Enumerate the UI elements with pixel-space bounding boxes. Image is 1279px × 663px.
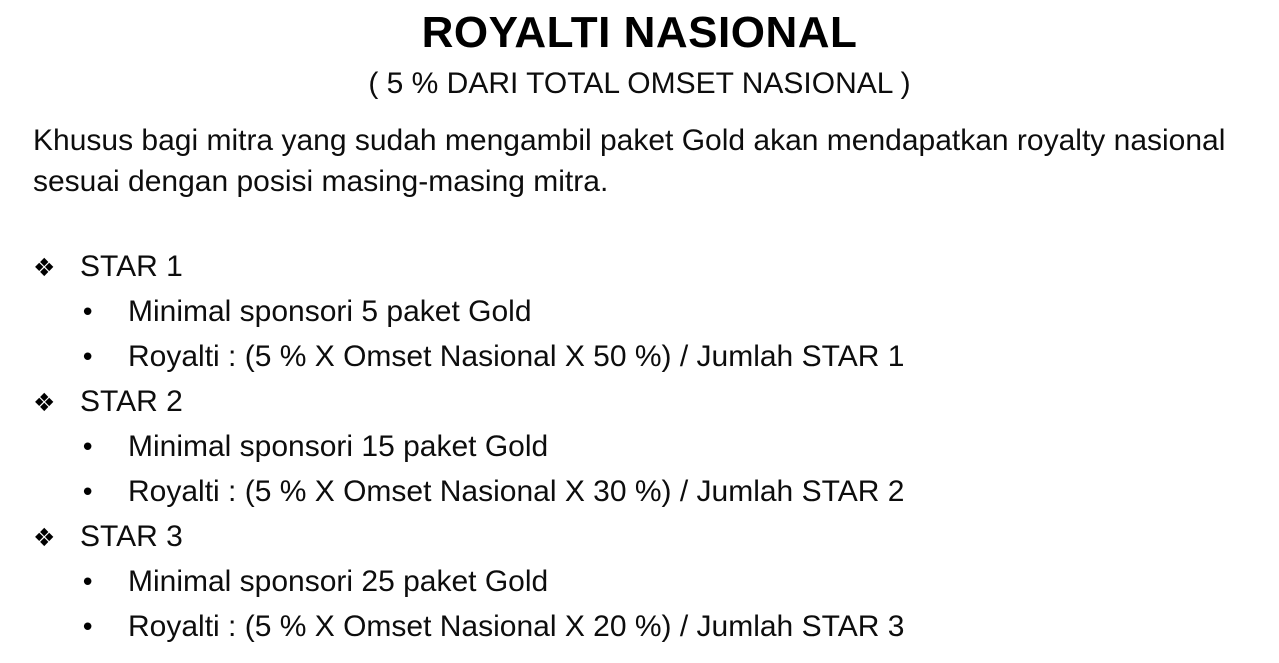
list-item: • Minimal sponsori 15 paket Gold <box>0 432 1279 477</box>
star-heading: ❖ STAR 1 <box>0 252 1279 297</box>
star-label: STAR 1 <box>80 252 183 282</box>
list-item: • Royalti : (5 % X Omset Nasional X 50 %… <box>0 342 1279 387</box>
star-heading: ❖ STAR 2 <box>0 387 1279 432</box>
list-item-text: Minimal sponsori 15 paket Gold <box>128 432 548 462</box>
list-item-text: Royalti : (5 % X Omset Nasional X 50 %) … <box>128 342 904 372</box>
list-item-text: Royalti : (5 % X Omset Nasional X 30 %) … <box>128 477 904 507</box>
slide-canvas: ROYALTI NASIONAL ( 5 % DARI TOTAL OMSET … <box>0 0 1279 663</box>
dot-bullet-icon: • <box>80 570 128 596</box>
star-section: ❖ STAR 2 • Minimal sponsori 15 paket Gol… <box>0 387 1279 522</box>
star-section: ❖ STAR 1 • Minimal sponsori 5 paket Gold… <box>0 252 1279 387</box>
star-section: ❖ STAR 3 • Minimal sponsori 25 paket Gol… <box>0 522 1279 657</box>
list-item: • Royalti : (5 % X Omset Nasional X 30 %… <box>0 477 1279 522</box>
page-subtitle: ( 5 % DARI TOTAL OMSET NASIONAL ) <box>0 66 1279 102</box>
star-label: STAR 3 <box>80 522 183 552</box>
list-item: • Minimal sponsori 5 paket Gold <box>0 297 1279 342</box>
page-title: ROYALTI NASIONAL <box>0 8 1279 59</box>
list-item: • Royalti : (5 % X Omset Nasional X 20 %… <box>0 612 1279 657</box>
diamond-bullet-icon: ❖ <box>33 255 80 280</box>
dot-bullet-icon: • <box>80 615 128 641</box>
diamond-bullet-icon: ❖ <box>33 525 80 550</box>
star-heading: ❖ STAR 3 <box>0 522 1279 567</box>
star-label: STAR 2 <box>80 387 183 417</box>
dot-bullet-icon: • <box>80 300 128 326</box>
dot-bullet-icon: • <box>80 345 128 371</box>
list-item-text: Royalti : (5 % X Omset Nasional X 20 %) … <box>128 612 904 642</box>
diamond-bullet-icon: ❖ <box>33 390 80 415</box>
list-item-text: Minimal sponsori 25 paket Gold <box>128 567 548 597</box>
intro-paragraph: Khusus bagi mitra yang sudah mengambil p… <box>33 120 1248 203</box>
list-item: • Minimal sponsori 25 paket Gold <box>0 567 1279 612</box>
dot-bullet-icon: • <box>80 435 128 461</box>
dot-bullet-icon: • <box>80 480 128 506</box>
list-item-text: Minimal sponsori 5 paket Gold <box>128 297 532 327</box>
star-sections-list: ❖ STAR 1 • Minimal sponsori 5 paket Gold… <box>0 252 1279 657</box>
